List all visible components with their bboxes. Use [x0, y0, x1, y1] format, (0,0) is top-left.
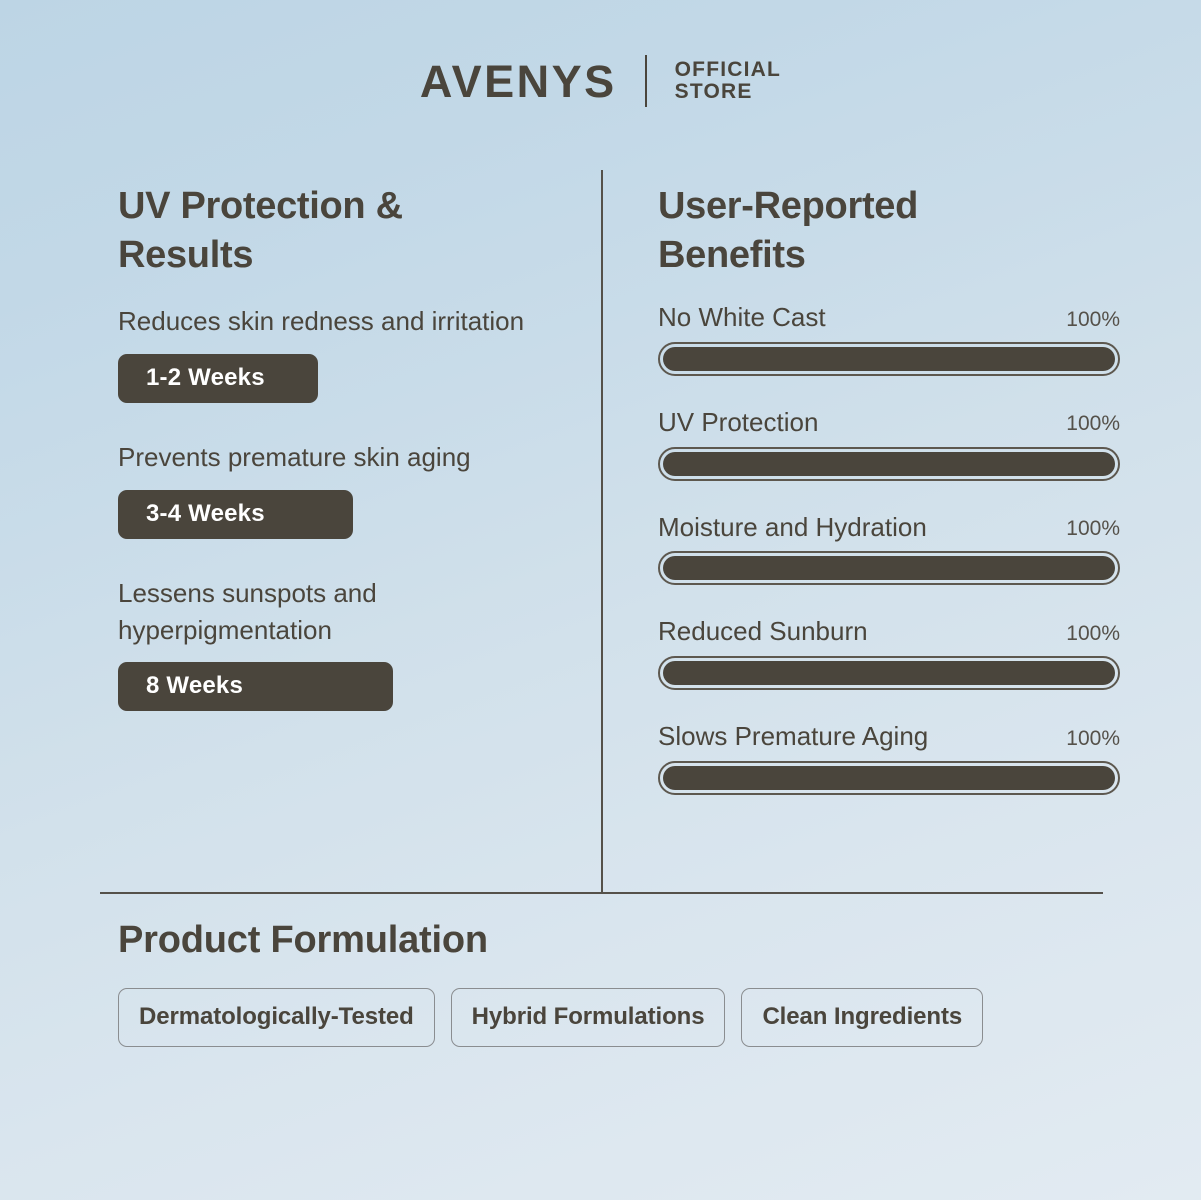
horizontal-divider [100, 892, 1103, 894]
formulation-chip: Clean Ingredients [741, 988, 983, 1047]
benefit-progress-track [658, 342, 1120, 376]
benefit-progress-fill [663, 556, 1115, 580]
formulation-chip-list: Dermatologically-Tested Hybrid Formulati… [118, 988, 1138, 1047]
user-reported-benefits-title: User-Reported Benefits [658, 182, 1120, 281]
official-store-line-2: Store [675, 81, 781, 103]
benefit-label: No White Cast [658, 303, 826, 333]
official-store-label: Official Store [675, 59, 781, 103]
benefit-item: UV Protection 100% [658, 408, 1120, 481]
brand-separator-divider [645, 55, 647, 107]
benefit-header-row: UV Protection 100% [658, 408, 1120, 438]
benefit-label: Reduced Sunburn [658, 617, 868, 647]
benefit-item: Reduced Sunburn 100% [658, 617, 1120, 690]
formulation-chip: Dermatologically-Tested [118, 988, 435, 1047]
product-formulation-section: Product Formulation Dermatologically-Tes… [118, 918, 1138, 1047]
benefit-label: UV Protection [658, 408, 818, 438]
benefit-progress-track [658, 447, 1120, 481]
benefit-progress-track [658, 551, 1120, 585]
benefit-progress-track [658, 761, 1120, 795]
brand-header: AVENYS Official Store [0, 46, 1201, 116]
benefit-percent: 100% [1066, 727, 1120, 752]
timeframe-badge: 1-2 Weeks [118, 354, 318, 403]
benefit-progress-fill [663, 661, 1115, 685]
benefit-header-row: Moisture and Hydration 100% [658, 513, 1120, 543]
brand-name: AVENYS [420, 59, 617, 104]
result-text: Prevents premature skin aging [118, 439, 578, 476]
formulation-chip: Hybrid Formulations [451, 988, 726, 1047]
infographic-page: AVENYS Official Store UV Protection & Re… [0, 0, 1201, 1200]
product-formulation-title: Product Formulation [118, 918, 1138, 964]
benefit-progress-fill [663, 766, 1115, 790]
benefit-progress-fill [663, 452, 1115, 476]
benefit-percent: 100% [1066, 517, 1120, 542]
result-text: Lessens sunspots and hyperpigmentation [118, 575, 578, 649]
benefit-progress-fill [663, 347, 1115, 371]
uv-protection-results-section: UV Protection & Results Reduces skin red… [118, 182, 578, 711]
user-reported-benefits-section: User-Reported Benefits No White Cast 100… [658, 182, 1120, 795]
result-item: Lessens sunspots and hyperpigmentation 8… [118, 575, 578, 712]
benefit-percent: 100% [1066, 622, 1120, 647]
timeframe-badge: 3-4 Weeks [118, 490, 353, 539]
result-item: Prevents premature skin aging 3-4 Weeks [118, 439, 578, 539]
result-item: Reduces skin redness and irritation 1-2 … [118, 303, 578, 403]
result-text: Reduces skin redness and irritation [118, 303, 578, 340]
benefit-percent: 100% [1066, 308, 1120, 333]
benefit-item: No White Cast 100% [658, 303, 1120, 376]
benefit-label: Moisture and Hydration [658, 513, 927, 543]
benefit-header-row: No White Cast 100% [658, 303, 1120, 333]
benefit-item: Moisture and Hydration 100% [658, 513, 1120, 586]
benefit-header-row: Slows Premature Aging 100% [658, 722, 1120, 752]
benefit-item: Slows Premature Aging 100% [658, 722, 1120, 795]
benefit-header-row: Reduced Sunburn 100% [658, 617, 1120, 647]
benefit-label: Slows Premature Aging [658, 722, 928, 752]
timeframe-badge: 8 Weeks [118, 662, 393, 711]
benefit-percent: 100% [1066, 412, 1120, 437]
uv-protection-results-title: UV Protection & Results [118, 182, 578, 281]
official-store-line-1: Official [675, 59, 781, 81]
vertical-divider [601, 170, 603, 893]
benefit-progress-track [658, 656, 1120, 690]
